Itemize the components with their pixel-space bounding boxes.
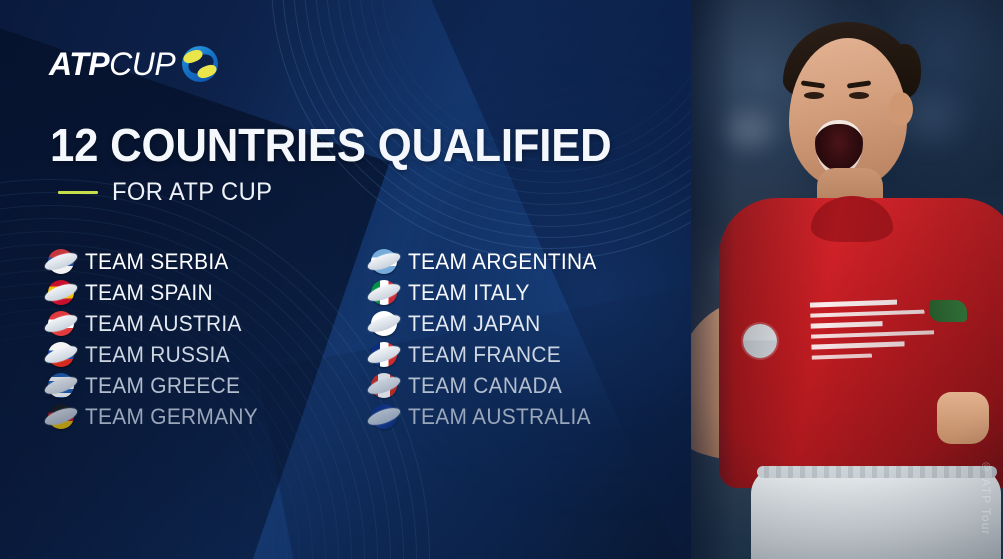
teams-column-left: TEAM SERBIATEAM SPAINTEAM AUSTRIATEAM RU… (48, 246, 326, 432)
team-label: TEAM AUSTRIA (85, 311, 242, 337)
team-label: TEAM JAPAN (408, 311, 541, 337)
qualified-teams-list: TEAM SERBIATEAM SPAINTEAM AUSTRIATEAM RU… (48, 246, 648, 432)
team-row: TEAM FRANCE (371, 339, 649, 370)
team-row: TEAM GREECE (48, 370, 326, 401)
team-row: TEAM SPAIN (48, 277, 326, 308)
team-label: TEAM ITALY (408, 280, 530, 306)
team-label: TEAM AUSTRALIA (408, 404, 591, 430)
photo-vignette (691, 0, 1003, 559)
player-photo: © ATP Tour (691, 0, 1003, 559)
team-row: TEAM CANADA (371, 370, 649, 401)
team-label: TEAM RUSSIA (85, 342, 230, 368)
team-row: TEAM ITALY (371, 277, 649, 308)
subtitle-row: FOR ATP CUP (58, 178, 281, 207)
flag-icon-russia (48, 342, 74, 367)
team-label: TEAM ARGENTINA (408, 249, 597, 275)
flag-icon-japan (371, 311, 397, 336)
logo-wordmark: ATPCUP (49, 48, 175, 80)
flag-icon-austria (48, 311, 74, 336)
team-row: TEAM GERMANY (48, 401, 326, 432)
atp-cup-logo: ATPCUP (49, 44, 218, 84)
team-row: TEAM JAPAN (371, 308, 649, 339)
team-label: TEAM GREECE (85, 373, 240, 399)
accent-dash-icon (58, 191, 98, 194)
flag-icon-spain (48, 280, 74, 305)
copyright-watermark: © ATP Tour (979, 460, 993, 535)
team-row: TEAM AUSTRIA (48, 308, 326, 339)
flag-icon-argentina (371, 249, 397, 274)
flag-icon-canada (371, 373, 397, 398)
atp-cup-emblem-icon (182, 46, 218, 82)
flag-icon-greece (48, 373, 74, 398)
team-row: TEAM AUSTRALIA (371, 401, 649, 432)
page-subtitle: FOR ATP CUP (112, 178, 272, 207)
flag-icon-serbia (48, 249, 74, 274)
team-label: TEAM SERBIA (85, 249, 229, 275)
left-content-panel: ATPCUP 12 COUNTRIES QUALIFIED FOR ATP CU… (0, 0, 691, 559)
team-row: TEAM SERBIA (48, 246, 326, 277)
team-label: TEAM CANADA (408, 373, 562, 399)
promo-graphic: ATPCUP 12 COUNTRIES QUALIFIED FOR ATP CU… (0, 0, 1003, 559)
flag-icon-france (371, 342, 397, 367)
team-label: TEAM FRANCE (408, 342, 561, 368)
team-label: TEAM SPAIN (85, 280, 213, 306)
team-row: TEAM ARGENTINA (371, 246, 649, 277)
team-label: TEAM GERMANY (85, 404, 258, 430)
flag-icon-australia (371, 404, 397, 429)
teams-column-right: TEAM ARGENTINATEAM ITALYTEAM JAPANTEAM F… (371, 246, 649, 432)
flag-icon-italy (371, 280, 397, 305)
team-row: TEAM RUSSIA (48, 339, 326, 370)
flag-icon-germany (48, 404, 74, 429)
page-title: 12 COUNTRIES QUALIFIED (50, 122, 612, 168)
